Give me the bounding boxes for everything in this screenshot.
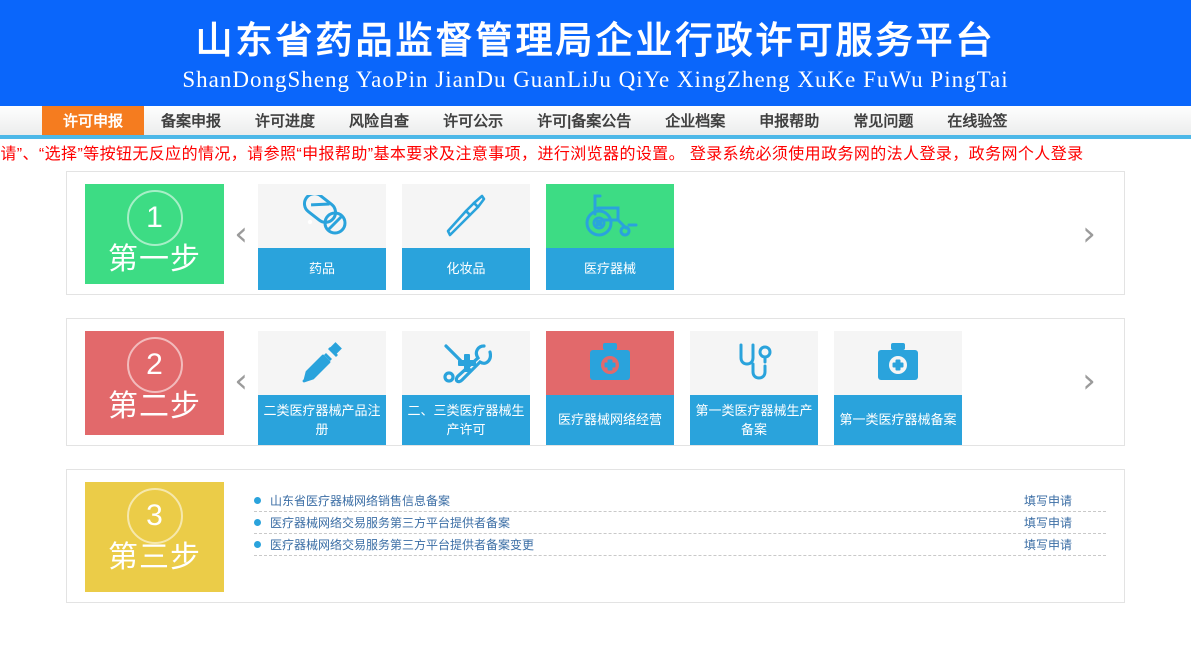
step-3-label: 第三步 [108,532,201,576]
notice-marquee: 申请”、“选择”等按钮无反应的情况，请参照“申报帮助”基本要求及注意事项，进行浏… [0,139,1191,171]
fill-application-link[interactable]: 填写申请 [1024,514,1072,531]
site-header: 山东省药品监督管理局企业行政许可服务平台 ShanDongSheng YaoPi… [0,0,1191,106]
main-navigation: 许可申报 备案申报 许可进度 风险自查 许可公示 许可|备案公告 企业档案 申报… [0,106,1191,139]
step-1-badge: 1 第一步 [85,184,224,284]
wheelchair-icon [546,184,674,248]
card-class1-device-record[interactable]: 第一类医疗器械备案 [834,331,962,445]
card-device-online-operation[interactable]: 医疗器械网络经营 [546,331,674,445]
card-drug[interactable]: 药品 [258,184,386,290]
fill-application-link[interactable]: 填写申请 [1024,536,1072,553]
tools-cross-icon [402,331,530,395]
main-content: 1 第一步 ‹ 药品 [0,171,1191,603]
medical-case-icon [834,331,962,395]
step-3-panel: 3 第三步 山东省医疗器械网络销售信息备案 填写申请 医疗器械网络交易服务第三方… [66,469,1125,603]
card-drug-label: 药品 [258,248,386,290]
nav-item-faq[interactable]: 常见问题 [836,106,930,135]
card-cosmetics[interactable]: 化妆品 [402,184,530,290]
card-medical-device-label: 医疗器械 [546,248,674,290]
step-1-prev-arrow[interactable]: ‹ [224,184,258,284]
step-2-label: 第二步 [108,381,201,425]
step-1-label: 第一步 [108,234,201,278]
nav-item-risk-selfcheck[interactable]: 风险自查 [332,106,426,135]
card-class23-device-production-permit[interactable]: 二、三类医疗器械生产许可 [402,331,530,445]
bullet-icon [254,519,261,526]
nav-item-record-application[interactable]: 备案申报 [144,106,238,135]
step-1-panel: 1 第一步 ‹ 药品 [66,171,1125,295]
syringe-icon [258,331,386,395]
nav-item-application-help[interactable]: 申报帮助 [742,106,836,135]
fill-application-link[interactable]: 填写申请 [1024,492,1072,509]
page-title: 山东省药品监督管理局企业行政许可服务平台 [0,20,1191,64]
bullet-icon [254,497,261,504]
nav-item-permit-record-announcement[interactable]: 许可|备案公告 [520,106,648,135]
card-class1-device-production-record-label: 第一类医疗器械生产备案 [690,395,818,445]
card-class2-device-registration[interactable]: 二类医疗器械产品注册 [258,331,386,445]
list-item-title: 医疗器械网络交易服务第三方平台提供者备案变更 [270,536,1024,553]
nav-item-permit-publicity[interactable]: 许可公示 [426,106,520,135]
bullet-icon [254,541,261,548]
list-item[interactable]: 山东省医疗器械网络销售信息备案 填写申请 [254,490,1106,512]
step-2-badge: 2 第二步 [85,331,224,435]
card-class23-device-production-permit-label: 二、三类医疗器械生产许可 [402,395,530,445]
stethoscope-icon [690,331,818,395]
nav-item-enterprise-archive[interactable]: 企业档案 [648,106,742,135]
card-class1-device-production-record[interactable]: 第一类医疗器械生产备案 [690,331,818,445]
step-3-item-list: 山东省医疗器械网络销售信息备案 填写申请 医疗器械网络交易服务第三方平台提供者备… [224,482,1106,556]
list-item[interactable]: 医疗器械网络交易服务第三方平台提供者备案 填写申请 [254,512,1106,534]
card-class1-device-record-label: 第一类医疗器械备案 [834,395,962,445]
card-cosmetics-label: 化妆品 [402,248,530,290]
step-2-prev-arrow[interactable]: ‹ [224,331,258,431]
list-item[interactable]: 医疗器械网络交易服务第三方平台提供者备案变更 填写申请 [254,534,1106,556]
nav-item-online-signature[interactable]: 在线验签 [930,106,1024,135]
card-device-online-operation-label: 医疗器械网络经营 [546,395,674,445]
list-item-title: 医疗器械网络交易服务第三方平台提供者备案 [270,514,1024,531]
card-medical-device[interactable]: 医疗器械 [546,184,674,290]
step-2-panel: 2 第二步 ‹ 二类医疗器械产品 [66,318,1125,446]
nav-item-permit-progress[interactable]: 许可进度 [238,106,332,135]
card-class2-device-registration-label: 二类医疗器械产品注册 [258,395,386,445]
nav-item-permit-application[interactable]: 许可申报 [42,106,144,135]
lipstick-icon [402,184,530,248]
medical-case-icon [546,331,674,395]
page-subtitle-pinyin: ShanDongSheng YaoPin JianDu GuanLiJu QiY… [0,66,1191,94]
notice-text: 申请”、“选择”等按钮无反应的情况，请参照“申报帮助”基本要求及注意事项，进行浏… [0,142,1084,168]
pills-icon [258,184,386,248]
step-3-badge: 3 第三步 [85,482,224,592]
step-2-card-row: 二类医疗器械产品注册 [258,331,962,445]
step-2-next-arrow[interactable]: › [1072,331,1106,431]
list-item-title: 山东省医疗器械网络销售信息备案 [270,492,1024,509]
step-1-next-arrow[interactable]: › [1072,184,1106,284]
step-1-card-row: 药品 化妆品 [258,184,674,290]
